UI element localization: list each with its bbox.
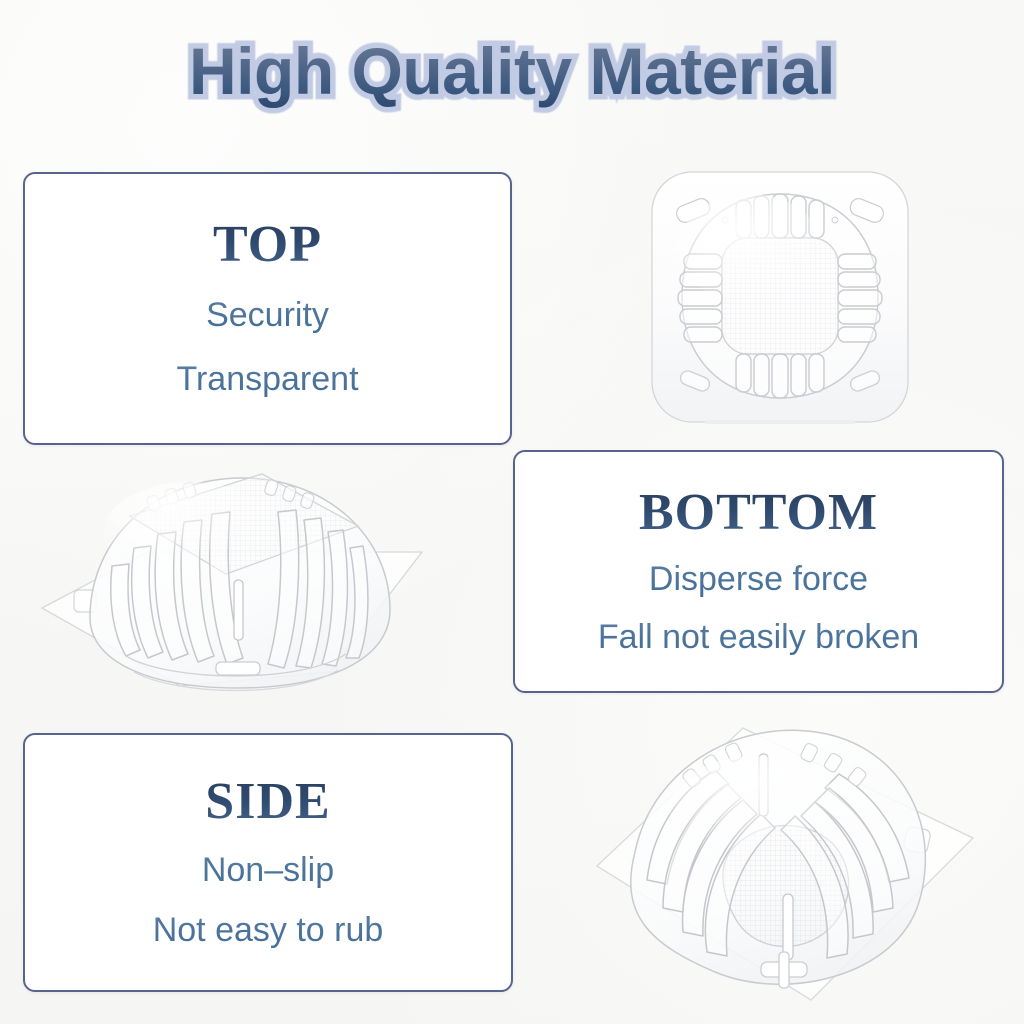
card-line-side-0: Non–slip (202, 852, 334, 889)
feature-card-bottom: BOTTOM Disperse force Fall not easily br… (513, 450, 1004, 693)
clamshell-top-outline (652, 172, 908, 424)
card-line-top-1: Transparent (176, 361, 358, 398)
page-title-text: High Quality Material (189, 34, 835, 108)
product-photo-clamshell-side-view (30, 440, 450, 730)
card-line-side-1: Not easy to rub (153, 912, 384, 949)
product-photo-clamshell-bottom-view (575, 700, 995, 1020)
clamshell-bottom-outline (597, 728, 973, 1000)
card-heading-top: TOP (213, 219, 322, 271)
feature-card-side: SIDE Non–slip Not easy to rub (23, 733, 513, 992)
card-heading-side: SIDE (205, 776, 330, 828)
card-line-top-0: Security (206, 297, 329, 334)
clamshell-side-outline (42, 474, 422, 691)
feature-card-top: TOP Security Transparent (23, 172, 512, 445)
page-title: High Quality Material High Quality Mater… (189, 38, 835, 104)
card-heading-bottom: BOTTOM (639, 487, 878, 539)
page-title-wrapper: High Quality Material High Quality Mater… (0, 28, 1024, 114)
card-line-bottom-1: Fall not easily broken (598, 619, 919, 656)
card-line-bottom-0: Disperse force (649, 561, 868, 598)
product-photo-clamshell-top-view (630, 158, 930, 448)
